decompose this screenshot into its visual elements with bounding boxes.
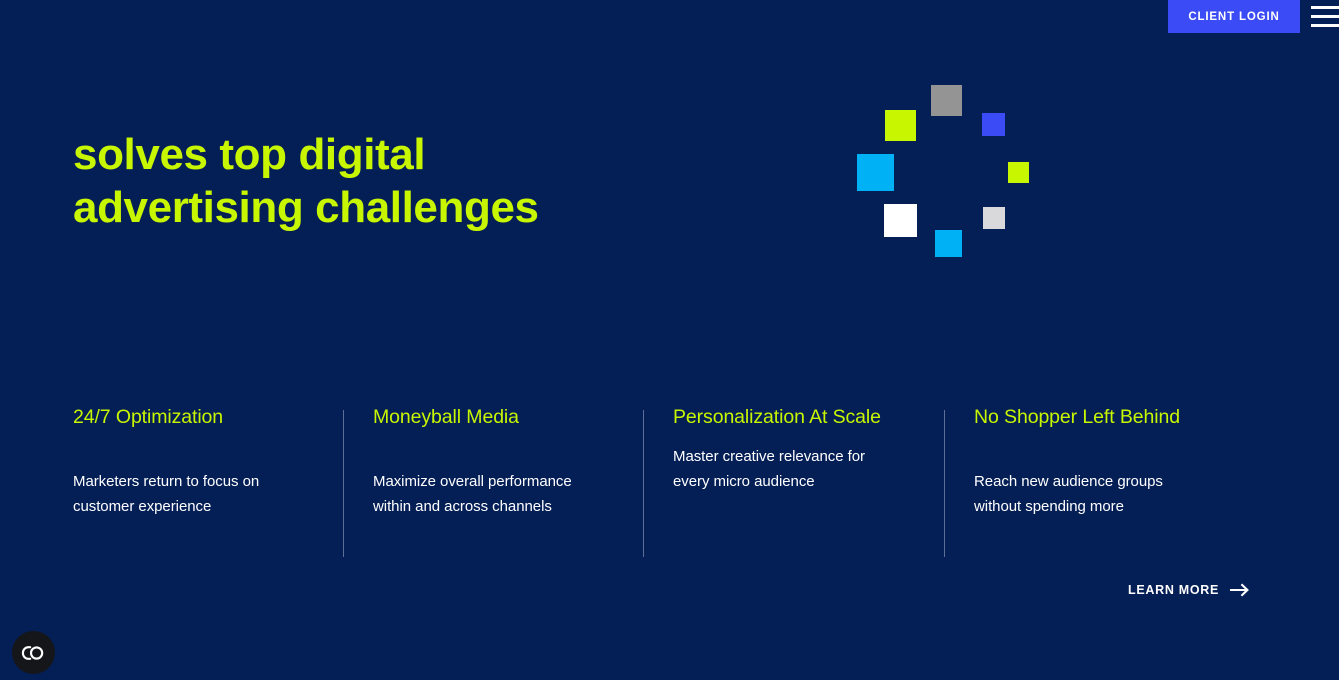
feature-title: Personalization At Scale [673, 405, 943, 430]
square-lime-small [1008, 162, 1029, 183]
feature-column-moneyball-media: Moneyball Media Maximize overall perform… [373, 405, 643, 519]
square-cyan-large [857, 154, 894, 191]
cookie-consent-icon[interactable] [12, 631, 55, 674]
feature-column-personalization: Personalization At Scale Master creative… [673, 405, 943, 494]
column-divider-2 [643, 410, 644, 557]
column-divider-3 [944, 410, 945, 557]
decorative-squares-cluster [840, 80, 1050, 265]
arrow-right-icon [1230, 583, 1249, 597]
menu-bar-2 [1311, 15, 1339, 18]
feature-column-optimization: 24/7 Optimization Marketers return to fo… [73, 405, 343, 519]
square-lightgray [983, 207, 1005, 229]
hero-heading-line-2: advertising challenges [73, 183, 539, 232]
feature-column-no-shopper-left-behind: No Shopper Left Behind Reach new audienc… [974, 405, 1244, 519]
column-divider-1 [343, 410, 344, 557]
square-lime-large [885, 110, 916, 141]
feature-columns: 24/7 Optimization Marketers return to fo… [0, 405, 1339, 560]
feature-title: 24/7 Optimization [73, 405, 343, 430]
page-root: CLIENT LOGIN solves top digital advertis… [0, 0, 1339, 680]
site-header: CLIENT LOGIN [0, 0, 1339, 33]
feature-body: Maximize overall performance within and … [373, 430, 588, 519]
page-title: solves top digital advertising challenge… [73, 128, 693, 234]
feature-title: No Shopper Left Behind [974, 405, 1244, 430]
hero-heading-line-1: solves top digital [73, 130, 425, 179]
client-login-button[interactable]: CLIENT LOGIN [1168, 0, 1300, 33]
square-gray [931, 85, 962, 116]
square-cyan-small [935, 230, 962, 257]
menu-bar-3 [1311, 24, 1339, 27]
feature-body: Master creative relevance for every micr… [673, 430, 888, 494]
square-blue [982, 113, 1005, 136]
feature-body: Marketers return to focus on customer ex… [73, 430, 288, 519]
menu-bar-1 [1311, 6, 1339, 9]
hamburger-menu-icon[interactable] [1311, 0, 1339, 33]
square-white [884, 204, 917, 237]
learn-more-label: LEARN MORE [1128, 583, 1219, 597]
feature-title: Moneyball Media [373, 405, 643, 430]
learn-more-link[interactable]: LEARN MORE [1128, 583, 1249, 597]
feature-body: Reach new audience groups without spendi… [974, 430, 1189, 519]
